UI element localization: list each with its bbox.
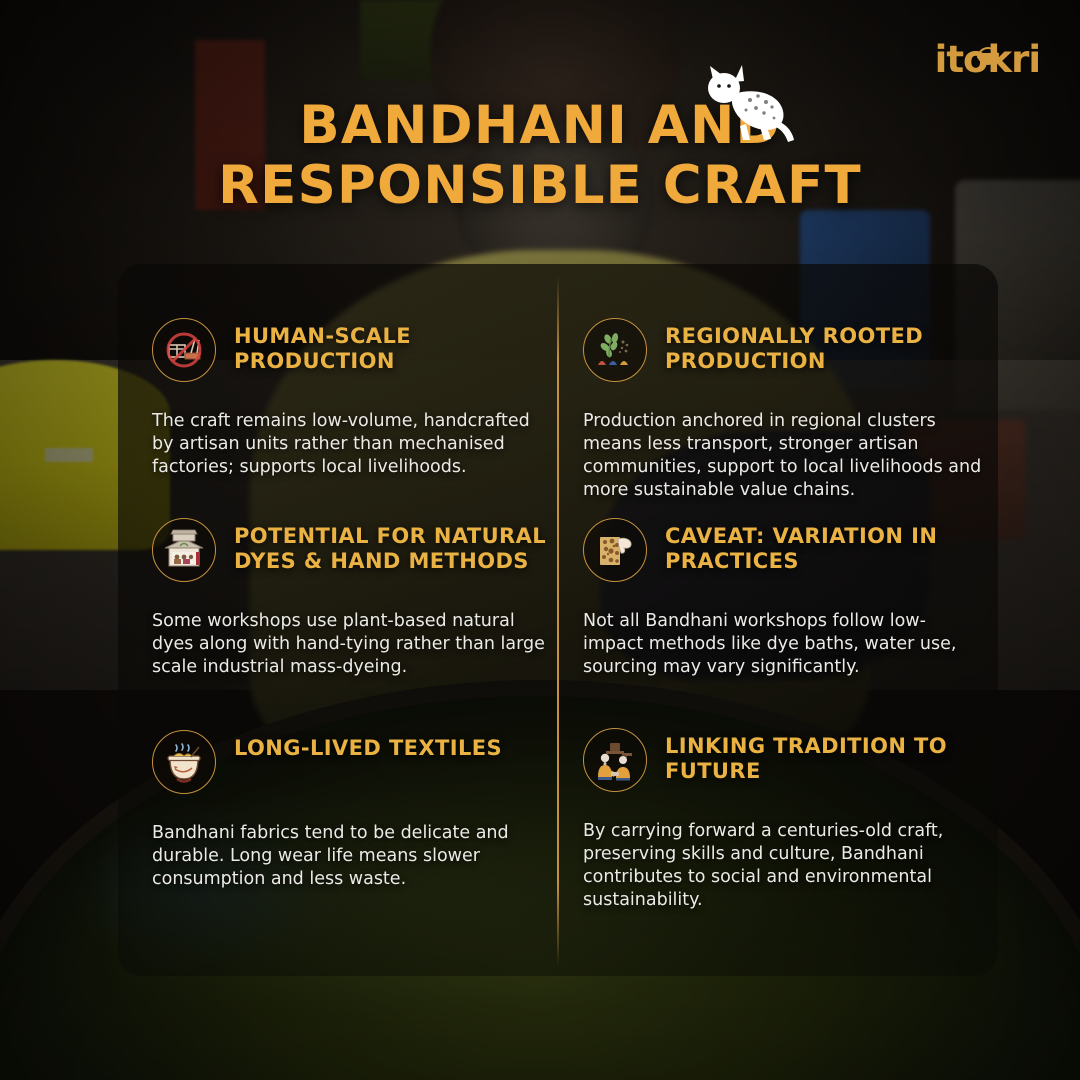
card-title: HUMAN-SCALE PRODUCTION (234, 324, 552, 374)
card-header: LINKING TRADITION TO FUTURE (583, 728, 983, 792)
card-body: Some workshops use plant-based natural d… (152, 610, 552, 679)
card-header: LONG-LIVED TEXTILES (152, 730, 552, 794)
card-body: Bandhani fabrics tend to be delicate and… (152, 822, 552, 891)
artisan-younger (612, 755, 630, 781)
steaming-dye-pot-icon (152, 730, 216, 794)
card-caveat-variation-in-practices: CAVEAT: VARIATION IN PRACTICES Not all B… (583, 518, 983, 679)
card-regionally-rooted-production: REGIONALLY ROOTED PRODUCTION Production … (583, 318, 983, 502)
card-header: POTENTIAL FOR NATURAL DYES & HAND METHOD… (152, 518, 552, 582)
cat-icon (688, 58, 798, 150)
plants-and-dye-mounds-icon (583, 318, 647, 382)
two-artisans-icon (583, 728, 647, 792)
no-factory-icon (152, 318, 216, 382)
card-title: CAVEAT: VARIATION IN PRACTICES (665, 524, 983, 574)
card-title: POTENTIAL FOR NATURAL DYES & HAND METHOD… (234, 524, 552, 574)
card-header: CAVEAT: VARIATION IN PRACTICES (583, 518, 983, 582)
card-long-lived-textiles: LONG-LIVED TEXTILES Bandhani fabrics ten… (152, 730, 552, 891)
workshop-building-icon (152, 518, 216, 582)
card-linking-tradition-to-future: LINKING TRADITION TO FUTURE By carrying … (583, 728, 983, 912)
card-body: The craft remains low-volume, handcrafte… (152, 410, 552, 479)
card-title: REGIONALLY ROOTED PRODUCTION (665, 324, 983, 374)
cards-grid: HUMAN-SCALE PRODUCTION The craft remains… (0, 0, 1080, 1080)
card-header: HUMAN-SCALE PRODUCTION (152, 318, 552, 382)
card-body: By carrying forward a centuries-old craf… (583, 820, 983, 912)
infographic-poster: itokri BANDHANI AND RESPONSIBLE CRAFT (0, 0, 1080, 1080)
card-title: LINKING TRADITION TO FUTURE (665, 734, 983, 784)
card-body: Production anchored in regional clusters… (583, 410, 983, 502)
card-header: REGIONALLY ROOTED PRODUCTION (583, 318, 983, 382)
card-body: Not all Bandhani workshops follow low-im… (583, 610, 983, 679)
card-title: LONG-LIVED TEXTILES (234, 736, 502, 761)
card-human-scale-production: HUMAN-SCALE PRODUCTION The craft remains… (152, 318, 552, 479)
brand-logo[interactable]: itokri (935, 38, 1040, 81)
card-potential-for-natural-dyes: POTENTIAL FOR NATURAL DYES & HAND METHOD… (152, 518, 552, 679)
hand-holding-patterned-fabric-icon (583, 518, 647, 582)
